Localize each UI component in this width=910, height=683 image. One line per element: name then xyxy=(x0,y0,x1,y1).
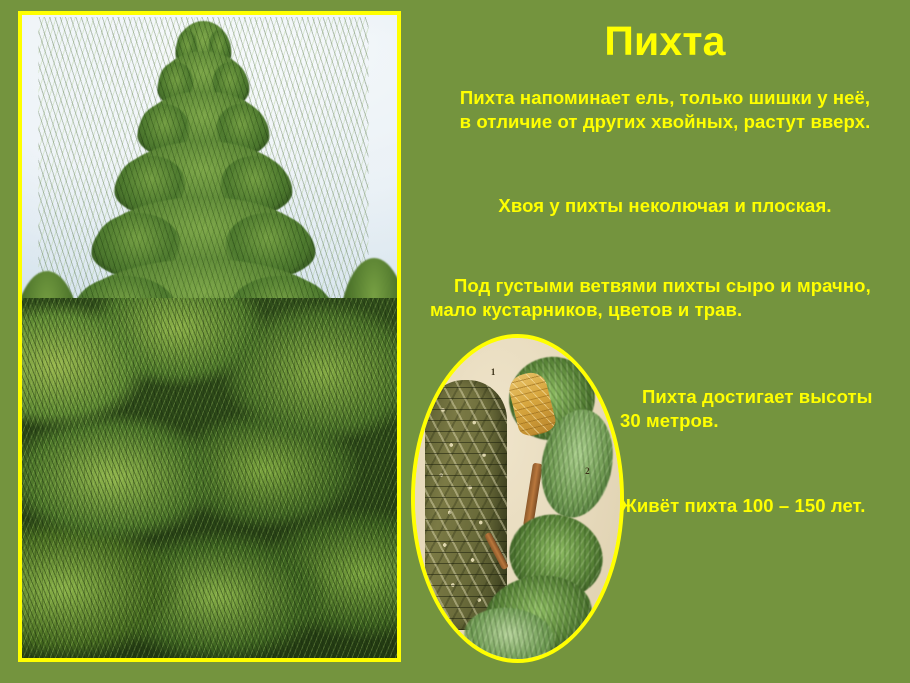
paragraph-height: Пихта достигает высоты 30 метров. xyxy=(620,385,908,434)
page-title: Пихта xyxy=(430,20,900,63)
dense-foliage xyxy=(22,298,397,658)
fir-cone-shape xyxy=(425,380,507,630)
fir-cone-botanical-illustration: 1 2 xyxy=(411,334,624,663)
paragraph-lifespan: Живёт пихта 100 – 150 лет. xyxy=(620,494,908,518)
photo-inner xyxy=(22,15,397,658)
figure-label-2: 2 xyxy=(585,466,590,476)
paragraph-needles: Хвоя у пихты неколючая и плоская. xyxy=(430,194,900,218)
figure-label-1: 1 xyxy=(491,367,496,377)
paragraph-understory: Под густыми ветвями пихты сыро и мрачно,… xyxy=(430,274,900,323)
paragraph-appearance: Пихта напоминает ель, только шишки у неё… xyxy=(430,86,900,135)
cone-scales xyxy=(425,380,507,630)
illustration-inner: 1 2 xyxy=(415,338,620,659)
slide-root: 1 2 Пихта Пихта напоминает ель, только ш… xyxy=(0,0,910,683)
fir-tree-photograph xyxy=(18,11,401,662)
